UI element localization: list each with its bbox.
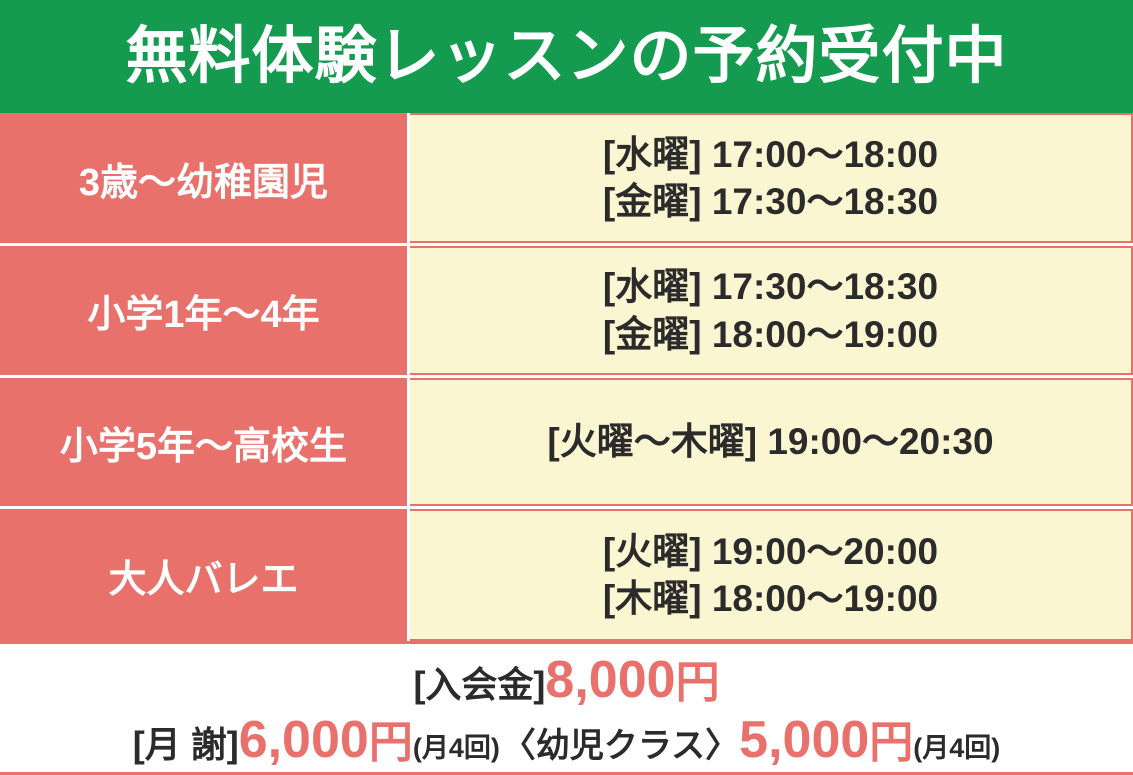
schedule-line: [火曜〜木曜] 19:00〜20:30 bbox=[547, 418, 993, 465]
admission-fee-label: [入会金] bbox=[413, 665, 545, 705]
schedule-line: [木曜] 18:00〜19:00 bbox=[603, 575, 938, 622]
admission-fee-line: [入会金] 8,000 円 bbox=[413, 651, 719, 709]
category-cell: 3歳〜幼稚園児 bbox=[0, 113, 410, 243]
kids-fee-amount: 5,000 bbox=[739, 711, 869, 769]
schedule-cell: [水曜] 17:00〜18:00 [金曜] 17:30〜18:30 bbox=[410, 113, 1133, 243]
monthly-fee-label: [月 謝] bbox=[133, 725, 239, 765]
schedule-line: [水曜] 17:30〜18:30 bbox=[603, 263, 938, 310]
schedule-cell: [水曜] 17:30〜18:30 [金曜] 18:00〜19:00 bbox=[410, 246, 1133, 375]
kids-fee-note: (月4回) bbox=[913, 733, 1000, 763]
schedule-cell: [火曜〜木曜] 19:00〜20:30 bbox=[410, 378, 1133, 506]
lesson-schedule-poster: 無料体験レッスンの予約受付中 3歳〜幼稚園児 [水曜] 17:00〜18:00 … bbox=[0, 0, 1133, 775]
monthly-fee-line: [月 謝] 6,000 円 (月4回) 〈幼児クラス〉 5,000 円 (月4回… bbox=[133, 711, 1001, 769]
table-row: 小学1年〜4年 [水曜] 17:30〜18:30 [金曜] 18:00〜19:0… bbox=[0, 246, 1133, 378]
kids-fee-yen: 円 bbox=[869, 718, 913, 767]
category-cell: 小学5年〜高校生 bbox=[0, 378, 410, 506]
table-row: 小学5年〜高校生 [火曜〜木曜] 19:00〜20:30 bbox=[0, 378, 1133, 509]
table-row: 大人バレエ [火曜] 19:00〜20:00 [木曜] 18:00〜19:00 bbox=[0, 509, 1133, 641]
category-cell: 小学1年〜4年 bbox=[0, 246, 410, 375]
table-row: 3歳〜幼稚園児 [水曜] 17:00〜18:00 [金曜] 17:30〜18:3… bbox=[0, 113, 1133, 246]
category-cell: 大人バレエ bbox=[0, 509, 410, 641]
schedule-table: 3歳〜幼稚園児 [水曜] 17:00〜18:00 [金曜] 17:30〜18:3… bbox=[0, 113, 1133, 641]
fees-section: [入会金] 8,000 円 [月 謝] 6,000 円 (月4回) 〈幼児クラス… bbox=[0, 641, 1133, 775]
kids-class-label: 〈幼児クラス〉 bbox=[500, 727, 739, 765]
schedule-line: [金曜] 17:30〜18:30 bbox=[603, 178, 938, 225]
schedule-line: [水曜] 17:00〜18:00 bbox=[603, 131, 938, 178]
monthly-fee-yen: 円 bbox=[369, 718, 413, 767]
admission-fee-amount: 8,000 bbox=[545, 651, 675, 709]
header-banner: 無料体験レッスンの予約受付中 bbox=[0, 0, 1133, 113]
banner-title: 無料体験レッスンの予約受付中 bbox=[125, 26, 1007, 88]
monthly-fee-amount: 6,000 bbox=[239, 711, 369, 769]
monthly-fee-note: (月4回) bbox=[413, 733, 500, 763]
schedule-line: [金曜] 18:00〜19:00 bbox=[603, 311, 938, 358]
schedule-line: [火曜] 19:00〜20:00 bbox=[603, 528, 938, 575]
schedule-cell: [火曜] 19:00〜20:00 [木曜] 18:00〜19:00 bbox=[410, 509, 1133, 641]
admission-fee-yen: 円 bbox=[676, 658, 720, 707]
